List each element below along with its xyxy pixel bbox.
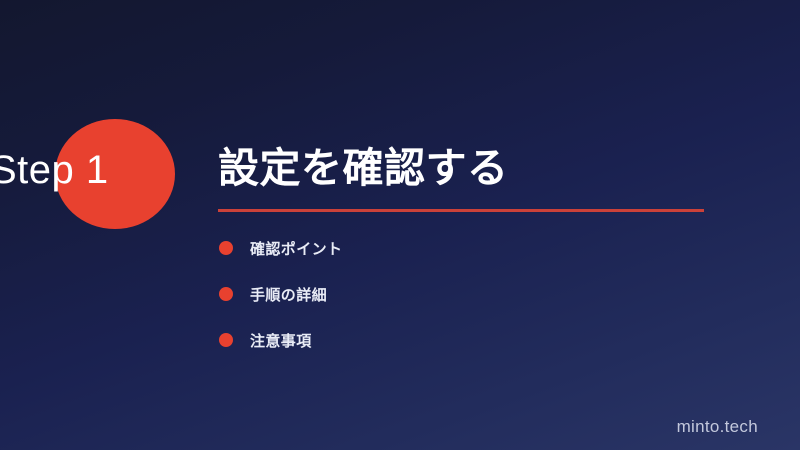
title-block: 設定を確認する xyxy=(218,146,706,212)
list-item-label: 手順の詳細 xyxy=(250,284,327,305)
bullet-list: 確認ポイント 手順の詳細 注意事項 xyxy=(219,238,679,350)
list-item: 注意事項 xyxy=(219,330,679,350)
bullet-dot-icon xyxy=(219,241,233,255)
bullet-dot-icon xyxy=(219,333,233,347)
presentation-slide: Step 1 設定を確認する 確認ポイント 手順の詳細 注意事項 minto.t… xyxy=(0,0,800,450)
list-item-label: 確認ポイント xyxy=(250,238,342,259)
footer-brand-watermark: minto.tech xyxy=(677,417,758,437)
list-item: 手順の詳細 xyxy=(219,284,679,304)
bullet-dot-icon xyxy=(219,287,233,301)
list-item: 確認ポイント xyxy=(219,238,679,258)
title-underline-rule xyxy=(218,209,704,212)
step-label: Step 1 xyxy=(0,150,220,190)
list-item-label: 注意事項 xyxy=(250,330,312,351)
slide-title: 設定を確認する xyxy=(218,146,706,192)
